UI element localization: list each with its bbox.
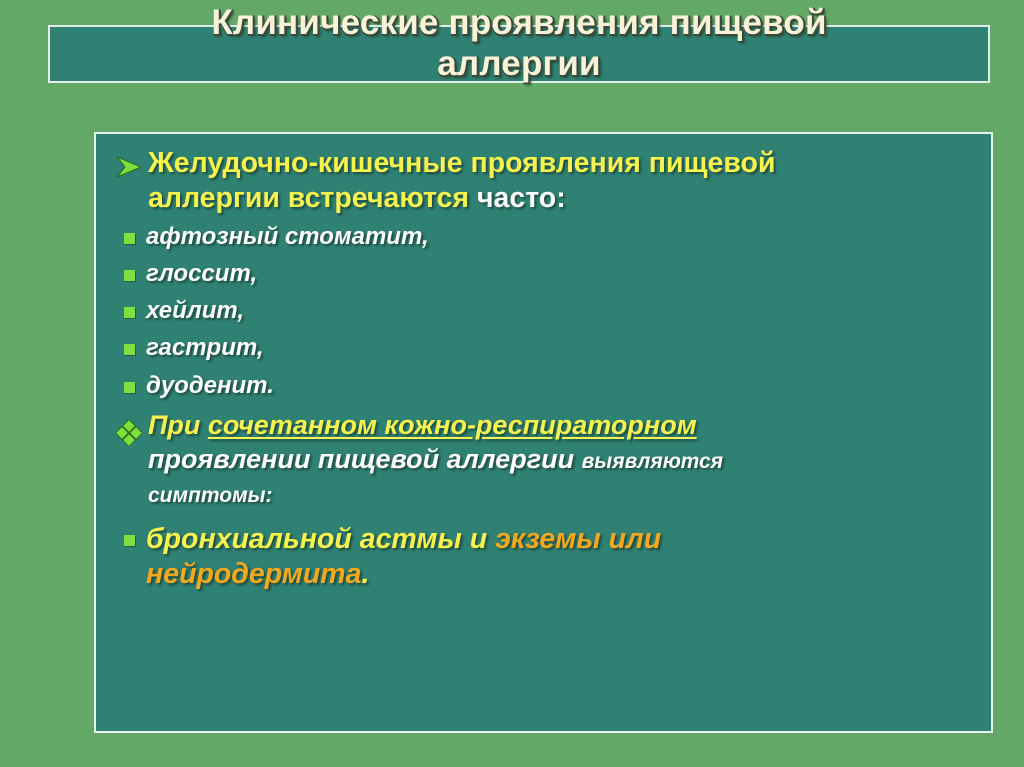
list-item: бронхиальной астмы и экземы или нейродер… [102,520,977,592]
block1-text: Желудочно-кишечные проявления пищевой ал… [148,144,977,216]
content-panel: Желудочно-кишечные проявления пищевой ал… [94,132,993,733]
block1-line2-white: часто: [477,182,566,214]
block3-part2: экземы или [495,523,661,555]
square-bullet-icon [112,329,146,355]
list-item: хейлит, [102,292,977,325]
block3-part4: . [361,558,369,590]
block1-line1: Желудочно-кишечные проявления пищевой [148,147,775,179]
block3-text: бронхиальной астмы и экземы или нейродер… [146,520,977,592]
list-item: дуоденит. [102,367,977,400]
square-bullet-icon [112,255,146,281]
diamond-bullet-icon [110,408,148,446]
block3-part1: бронхиальной астмы и [146,523,495,555]
sub-item-label: хейлит, [146,292,977,325]
square-bullet-icon [112,520,146,546]
sub-item-label: афтозный стоматит, [146,218,977,251]
block2-lead: При [148,410,208,440]
block2-line3-small: симптомы: [148,484,273,507]
list-item: афтозный стоматит, [102,218,977,251]
square-bullet-icon [112,292,146,318]
block1-line2-yellow: аллергии встречаются [148,182,477,214]
sub-item-label: глоссит, [146,255,977,288]
block2-text: При сочетанном кожно-респираторном прояв… [148,408,977,510]
sub-item-label: гастрит, [146,329,977,362]
title-box [48,25,990,83]
block2-line2: проявлении пищевой аллергии [148,444,582,474]
block3-part3: нейродермита [146,558,361,590]
square-bullet-icon [112,218,146,244]
list-item: глоссит, [102,255,977,288]
block2-line2-small: выявляются [582,450,723,473]
sub-item-label: дуоденит. [146,367,977,400]
arrow-bullet-icon [110,144,148,178]
block2-underlined: сочетанном кожно-респираторном [208,410,697,440]
slide-root: Клинические проявления пищевой аллергии … [0,0,1024,767]
list-item: Желудочно-кишечные проявления пищевой ал… [102,144,977,216]
square-bullet-icon [112,367,146,393]
list-item: гастрит, [102,329,977,362]
list-item: При сочетанном кожно-респираторном прояв… [102,408,977,510]
